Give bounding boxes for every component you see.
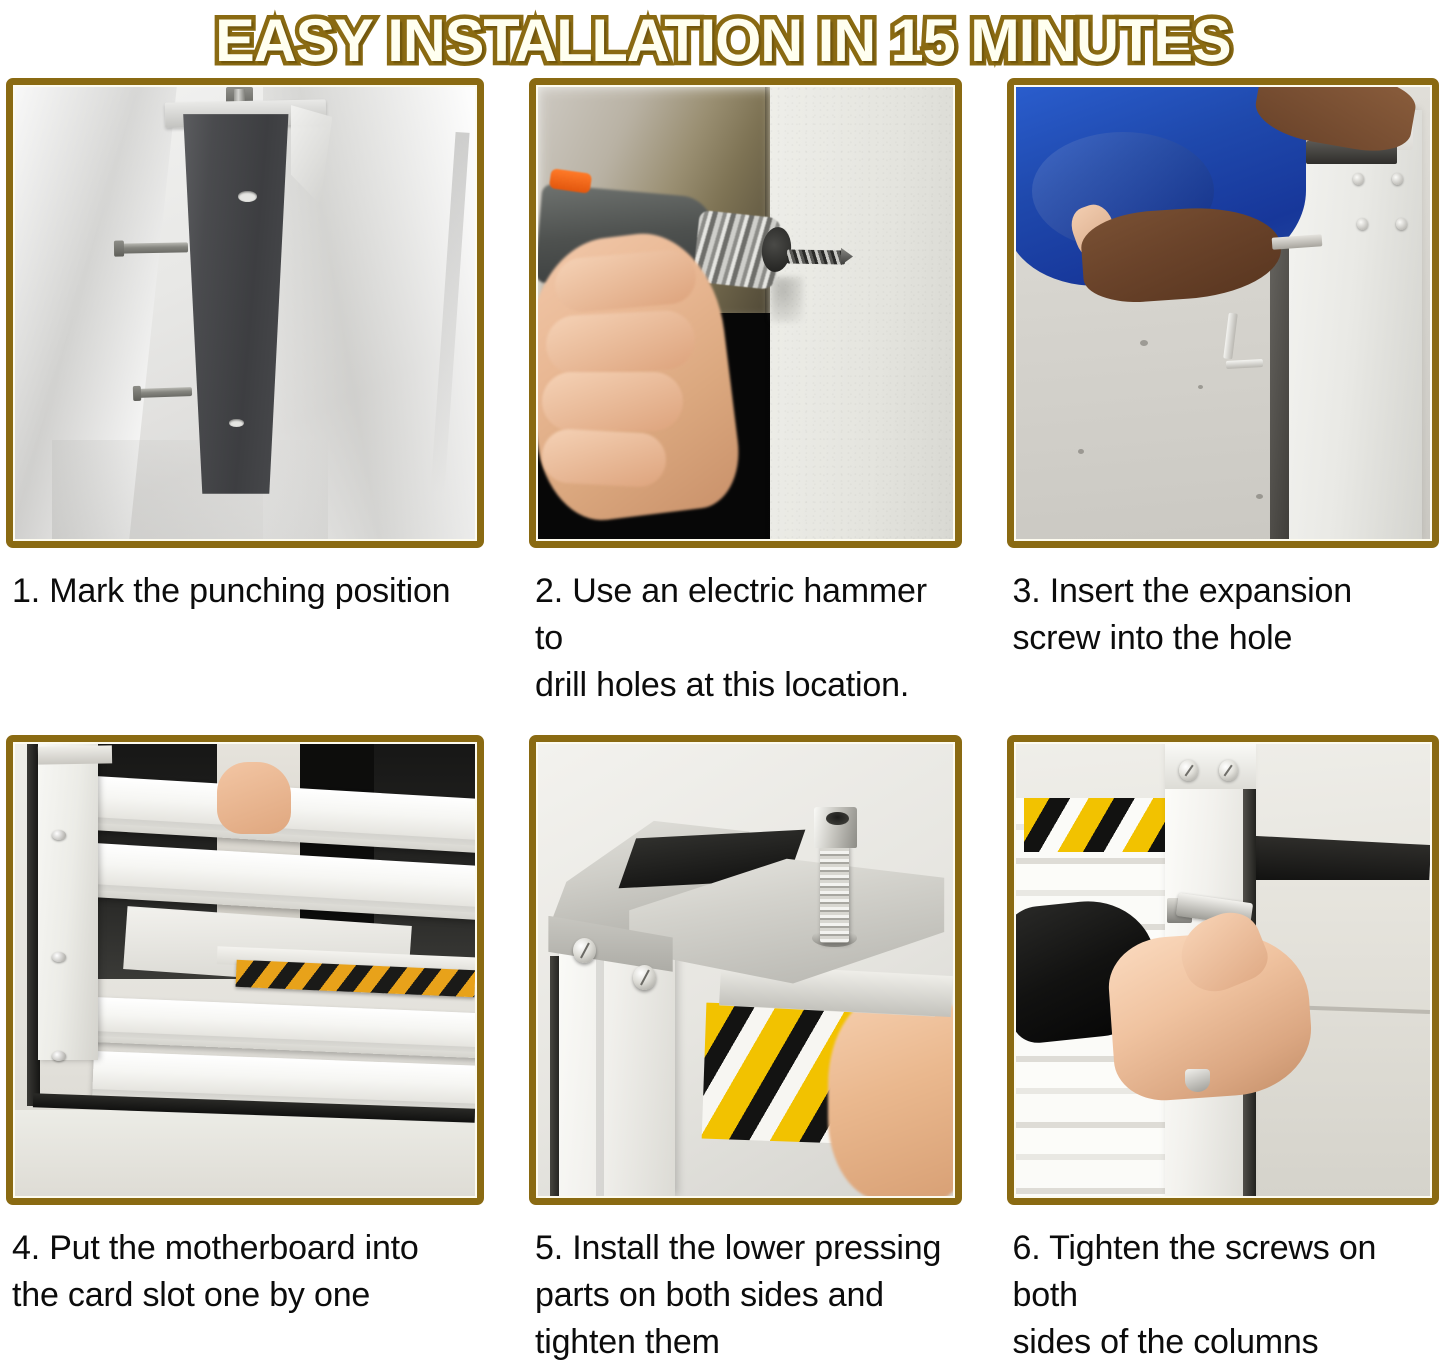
caption-line: 6. Tighten the screws on both (1013, 1225, 1440, 1319)
step-card-1: 1. Mark the punching position (6, 78, 484, 709)
caption-line: 3. Insert the expansion (1013, 568, 1440, 615)
caption-line: drill holes at this location. (535, 662, 962, 709)
row-separator (0, 709, 1445, 735)
step-photo-frame-2 (529, 78, 962, 548)
header-banner: EASY INSTALLATION IN 15 MINUTES (0, 0, 1445, 78)
step-card-4: 4. Put the motherboard into the card slo… (6, 735, 484, 1366)
photo-lower-pressing-parts (538, 744, 953, 1196)
caption-line: screw into the hole (1013, 615, 1440, 662)
photo-tighten-column-screws (1016, 744, 1431, 1196)
photo-mark-punching-position (15, 87, 475, 539)
step-photo-frame-6 (1007, 735, 1440, 1205)
photo-insert-expansion-screw (1016, 87, 1431, 539)
step-photo-frame-4 (6, 735, 484, 1205)
caption-line: parts on both sides and (535, 1272, 962, 1319)
photo-insert-boards-card-slot (15, 744, 475, 1196)
step-card-3: 3. Insert the expansion screw into the h… (1007, 78, 1440, 709)
caption-line: tighten them (535, 1319, 962, 1366)
step-photo-frame-1 (6, 78, 484, 548)
caption-line: 4. Put the motherboard into (12, 1225, 484, 1272)
step-card-2: 2. Use an electric hammer to drill holes… (529, 78, 962, 709)
caption-line: 5. Install the lower pressing (535, 1225, 962, 1272)
step-caption-3: 3. Insert the expansion screw into the h… (1007, 548, 1440, 662)
step-caption-2: 2. Use an electric hammer to drill holes… (529, 548, 962, 709)
step-card-6: 6. Tighten the screws on both sides of t… (1007, 735, 1440, 1366)
steps-grid-row-1: 1. Mark the punching position (0, 78, 1445, 709)
step-photo-frame-3 (1007, 78, 1440, 548)
page-title: EASY INSTALLATION IN 15 MINUTES (215, 10, 1231, 72)
photo-drill-holes (538, 87, 953, 539)
step-caption-6: 6. Tighten the screws on both sides of t… (1007, 1205, 1440, 1366)
step-caption-4: 4. Put the motherboard into the card slo… (6, 1205, 484, 1319)
step-card-5: 5. Install the lower pressing parts on b… (529, 735, 962, 1366)
caption-line: the card slot one by one (12, 1272, 484, 1319)
caption-line: 1. Mark the punching position (12, 568, 484, 615)
step-caption-5: 5. Install the lower pressing parts on b… (529, 1205, 962, 1366)
step-caption-1: 1. Mark the punching position (6, 548, 484, 615)
caption-line: sides of the columns (1013, 1319, 1440, 1366)
caption-line: 2. Use an electric hammer to (535, 568, 962, 662)
step-photo-frame-5 (529, 735, 962, 1205)
steps-grid-row-2: 4. Put the motherboard into the card slo… (0, 735, 1445, 1366)
